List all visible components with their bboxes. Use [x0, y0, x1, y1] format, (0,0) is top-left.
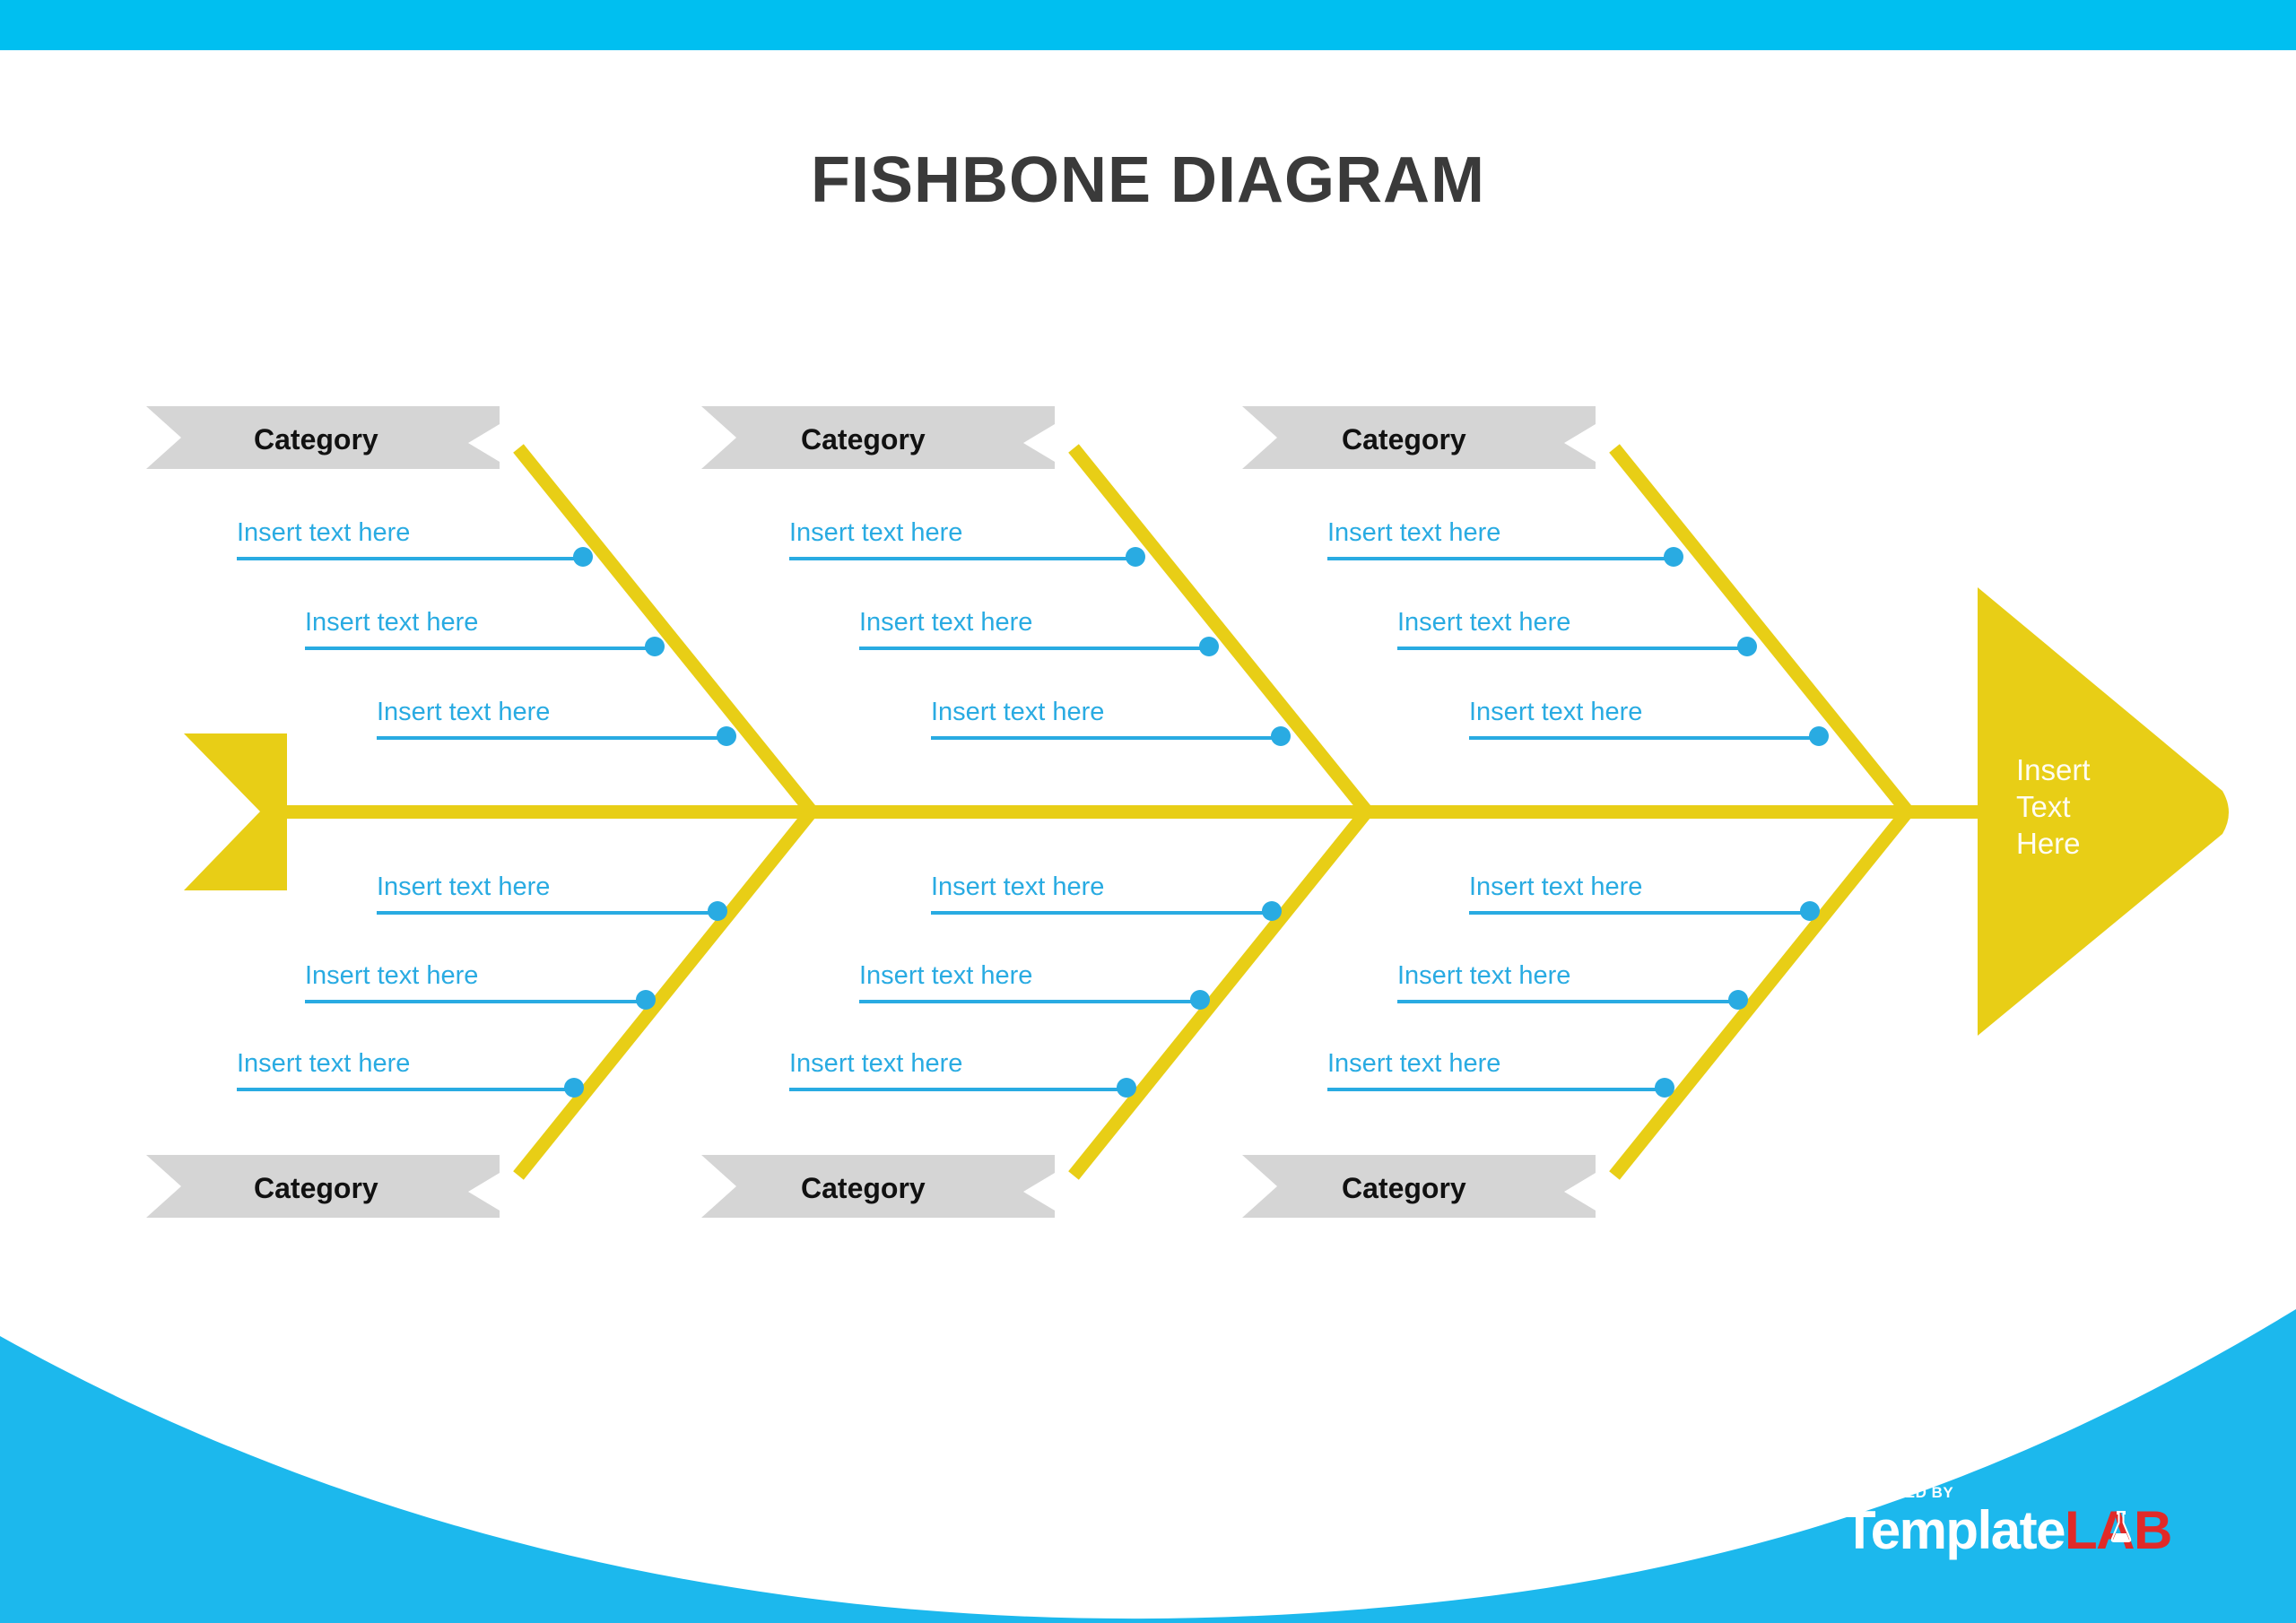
logo-template-text: Template	[1843, 1500, 2065, 1560]
cause-dot-bottom-3-2	[1655, 1078, 1674, 1098]
cause-label-bottom-3-1[interactable]: Insert text here	[1397, 961, 1570, 991]
category-label-top-2[interactable]: Category	[801, 423, 926, 456]
rib-top-1	[518, 448, 812, 811]
category-label-top-1[interactable]: Category	[254, 423, 378, 456]
cause-label-top-2-0[interactable]: Insert text here	[789, 518, 962, 548]
category-label-bottom-3[interactable]: Category	[1342, 1172, 1466, 1205]
cause-label-bottom-1-2[interactable]: Insert text here	[237, 1049, 410, 1079]
category-label-top-3[interactable]: Category	[1342, 423, 1466, 456]
cause-dot-top-3-1	[1737, 637, 1757, 656]
page-root: FISHBONE DIAGRAM	[0, 0, 2296, 1623]
cause-dot-bottom-2-1	[1190, 990, 1210, 1010]
cause-label-top-1-0[interactable]: Insert text here	[237, 518, 410, 548]
cause-label-bottom-1-1[interactable]: Insert text here	[305, 961, 478, 991]
fish-head-label[interactable]: Insert Text Here	[2016, 751, 2091, 862]
cause-label-bottom-2-2[interactable]: Insert text here	[789, 1049, 962, 1079]
cause-label-bottom-2-0[interactable]: Insert text here	[931, 872, 1104, 902]
cause-label-top-3-1[interactable]: Insert text here	[1397, 608, 1570, 638]
templatelab-logo: CREATED BY TemplateLAB	[1843, 1484, 2202, 1569]
cause-dot-bottom-3-1	[1728, 990, 1748, 1010]
cause-dot-top-1-0	[573, 547, 593, 567]
flask-icon	[2108, 1509, 2135, 1545]
fish-head	[1978, 587, 2229, 1036]
cause-dot-bottom-1-1	[636, 990, 656, 1010]
cause-label-top-3-0[interactable]: Insert text here	[1327, 518, 1500, 548]
cause-label-bottom-2-1[interactable]: Insert text here	[859, 961, 1032, 991]
cause-label-bottom-3-0[interactable]: Insert text here	[1469, 872, 1642, 902]
category-label-bottom-2[interactable]: Category	[801, 1172, 926, 1205]
fish-spine	[278, 805, 1980, 819]
rib-bottom-3	[1614, 811, 1908, 1176]
cause-dot-bottom-1-2	[564, 1078, 584, 1098]
cause-dot-top-2-2	[1271, 726, 1291, 746]
cause-label-top-3-2[interactable]: Insert text here	[1469, 698, 1642, 727]
fishbone-diagram	[0, 0, 2296, 1623]
cause-label-top-2-1[interactable]: Insert text here	[859, 608, 1032, 638]
cause-dot-top-1-1	[645, 637, 665, 656]
category-label-bottom-1[interactable]: Category	[254, 1172, 378, 1205]
fish-tail	[184, 733, 287, 890]
cause-label-top-2-2[interactable]: Insert text here	[931, 698, 1104, 727]
cause-label-top-1-1[interactable]: Insert text here	[305, 608, 478, 638]
cause-dot-top-1-2	[717, 726, 736, 746]
rib-bottom-1	[518, 811, 812, 1176]
rib-top-2	[1074, 448, 1367, 811]
rib-top-3	[1614, 448, 1908, 811]
cause-dot-top-2-1	[1199, 637, 1219, 656]
cause-dot-top-3-0	[1664, 547, 1683, 567]
cause-dot-top-2-0	[1126, 547, 1145, 567]
cause-label-bottom-1-0[interactable]: Insert text here	[377, 872, 550, 902]
cause-dot-top-3-2	[1809, 726, 1829, 746]
cause-dot-bottom-1-0	[708, 901, 727, 921]
rib-bottom-2	[1074, 811, 1367, 1176]
cause-dot-bottom-2-2	[1117, 1078, 1136, 1098]
cause-label-bottom-3-2[interactable]: Insert text here	[1327, 1049, 1500, 1079]
cause-dot-bottom-3-0	[1800, 901, 1820, 921]
cause-label-top-1-2[interactable]: Insert text here	[377, 698, 550, 727]
cause-dot-bottom-2-0	[1262, 901, 1282, 921]
